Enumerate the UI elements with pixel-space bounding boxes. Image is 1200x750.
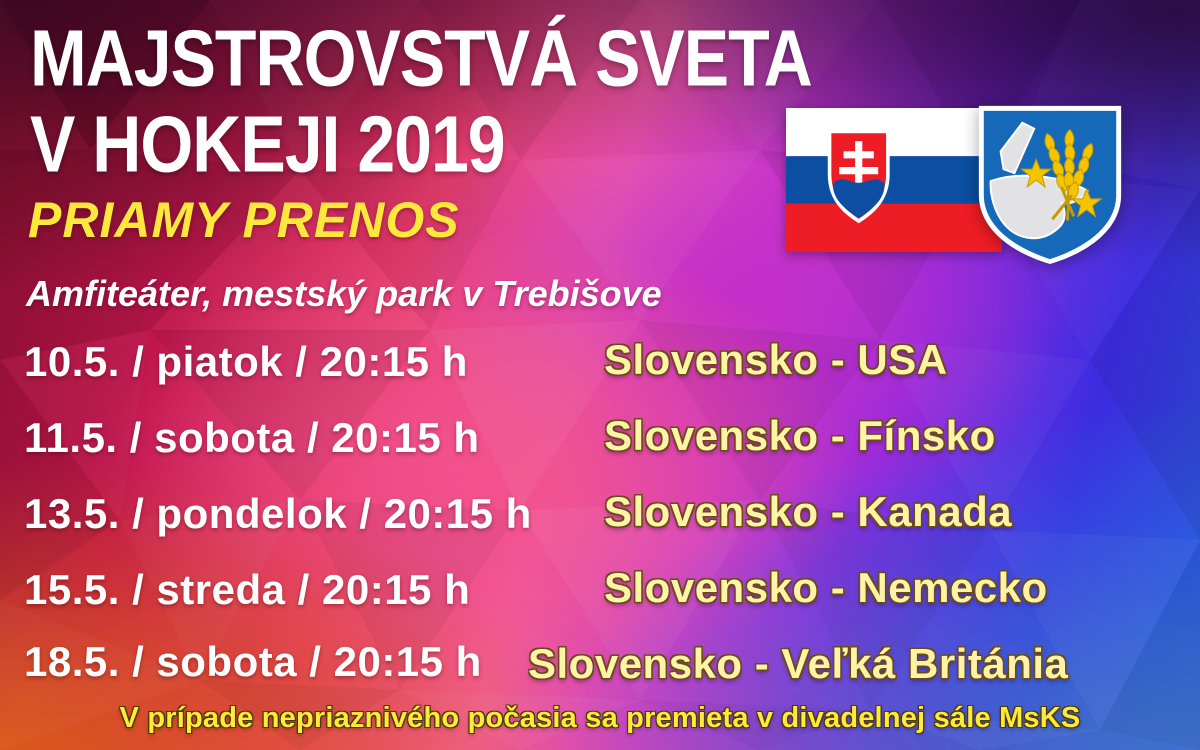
subtitle: PRIAMY PRENOS xyxy=(28,193,460,247)
schedule-list: 10.5. / piatok / 20:15 h Slovensko - USA… xyxy=(0,336,1200,716)
trebisov-coat-of-arms-icon xyxy=(970,100,1130,268)
schedule-date: 15.5. / streda / 20:15 h xyxy=(24,564,470,616)
schedule-match: Slovensko - Fínsko xyxy=(604,410,996,462)
schedule-date: 18.5. / sobota / 20:15 h xyxy=(24,636,482,688)
title-line-1: MAJSTROVSTVÁ SVETA xyxy=(30,16,1040,101)
schedule-match: Slovensko - Nemecko xyxy=(604,562,1048,614)
schedule-row: 13.5. / pondelok / 20:15 h Slovensko - K… xyxy=(0,488,1200,564)
schedule-row: 11.5. / sobota / 20:15 h Slovensko - Fín… xyxy=(0,412,1200,488)
schedule-row: 10.5. / piatok / 20:15 h Slovensko - USA xyxy=(0,336,1200,412)
schedule-date: 13.5. / pondelok / 20:15 h xyxy=(24,488,532,540)
footer-note: V prípade nepriaznivého počasia sa premi… xyxy=(0,700,1200,736)
schedule-match: Slovensko - Veľká Británia xyxy=(528,638,1068,690)
schedule-date: 11.5. / sobota / 20:15 h xyxy=(24,412,480,464)
venue-line: Amfiteáter, mestský park v Trebišove xyxy=(26,274,662,314)
schedule-match: Slovensko - Kanada xyxy=(604,486,1012,538)
poster-canvas: MAJSTROVSTVÁ SVETA V HOKEJI 2019 PRIAMY … xyxy=(0,0,1200,750)
schedule-row: 15.5. / streda / 20:15 h Slovensko - Nem… xyxy=(0,564,1200,640)
schedule-date: 10.5. / piatok / 20:15 h xyxy=(24,336,468,388)
schedule-match: Slovensko - USA xyxy=(604,334,948,386)
